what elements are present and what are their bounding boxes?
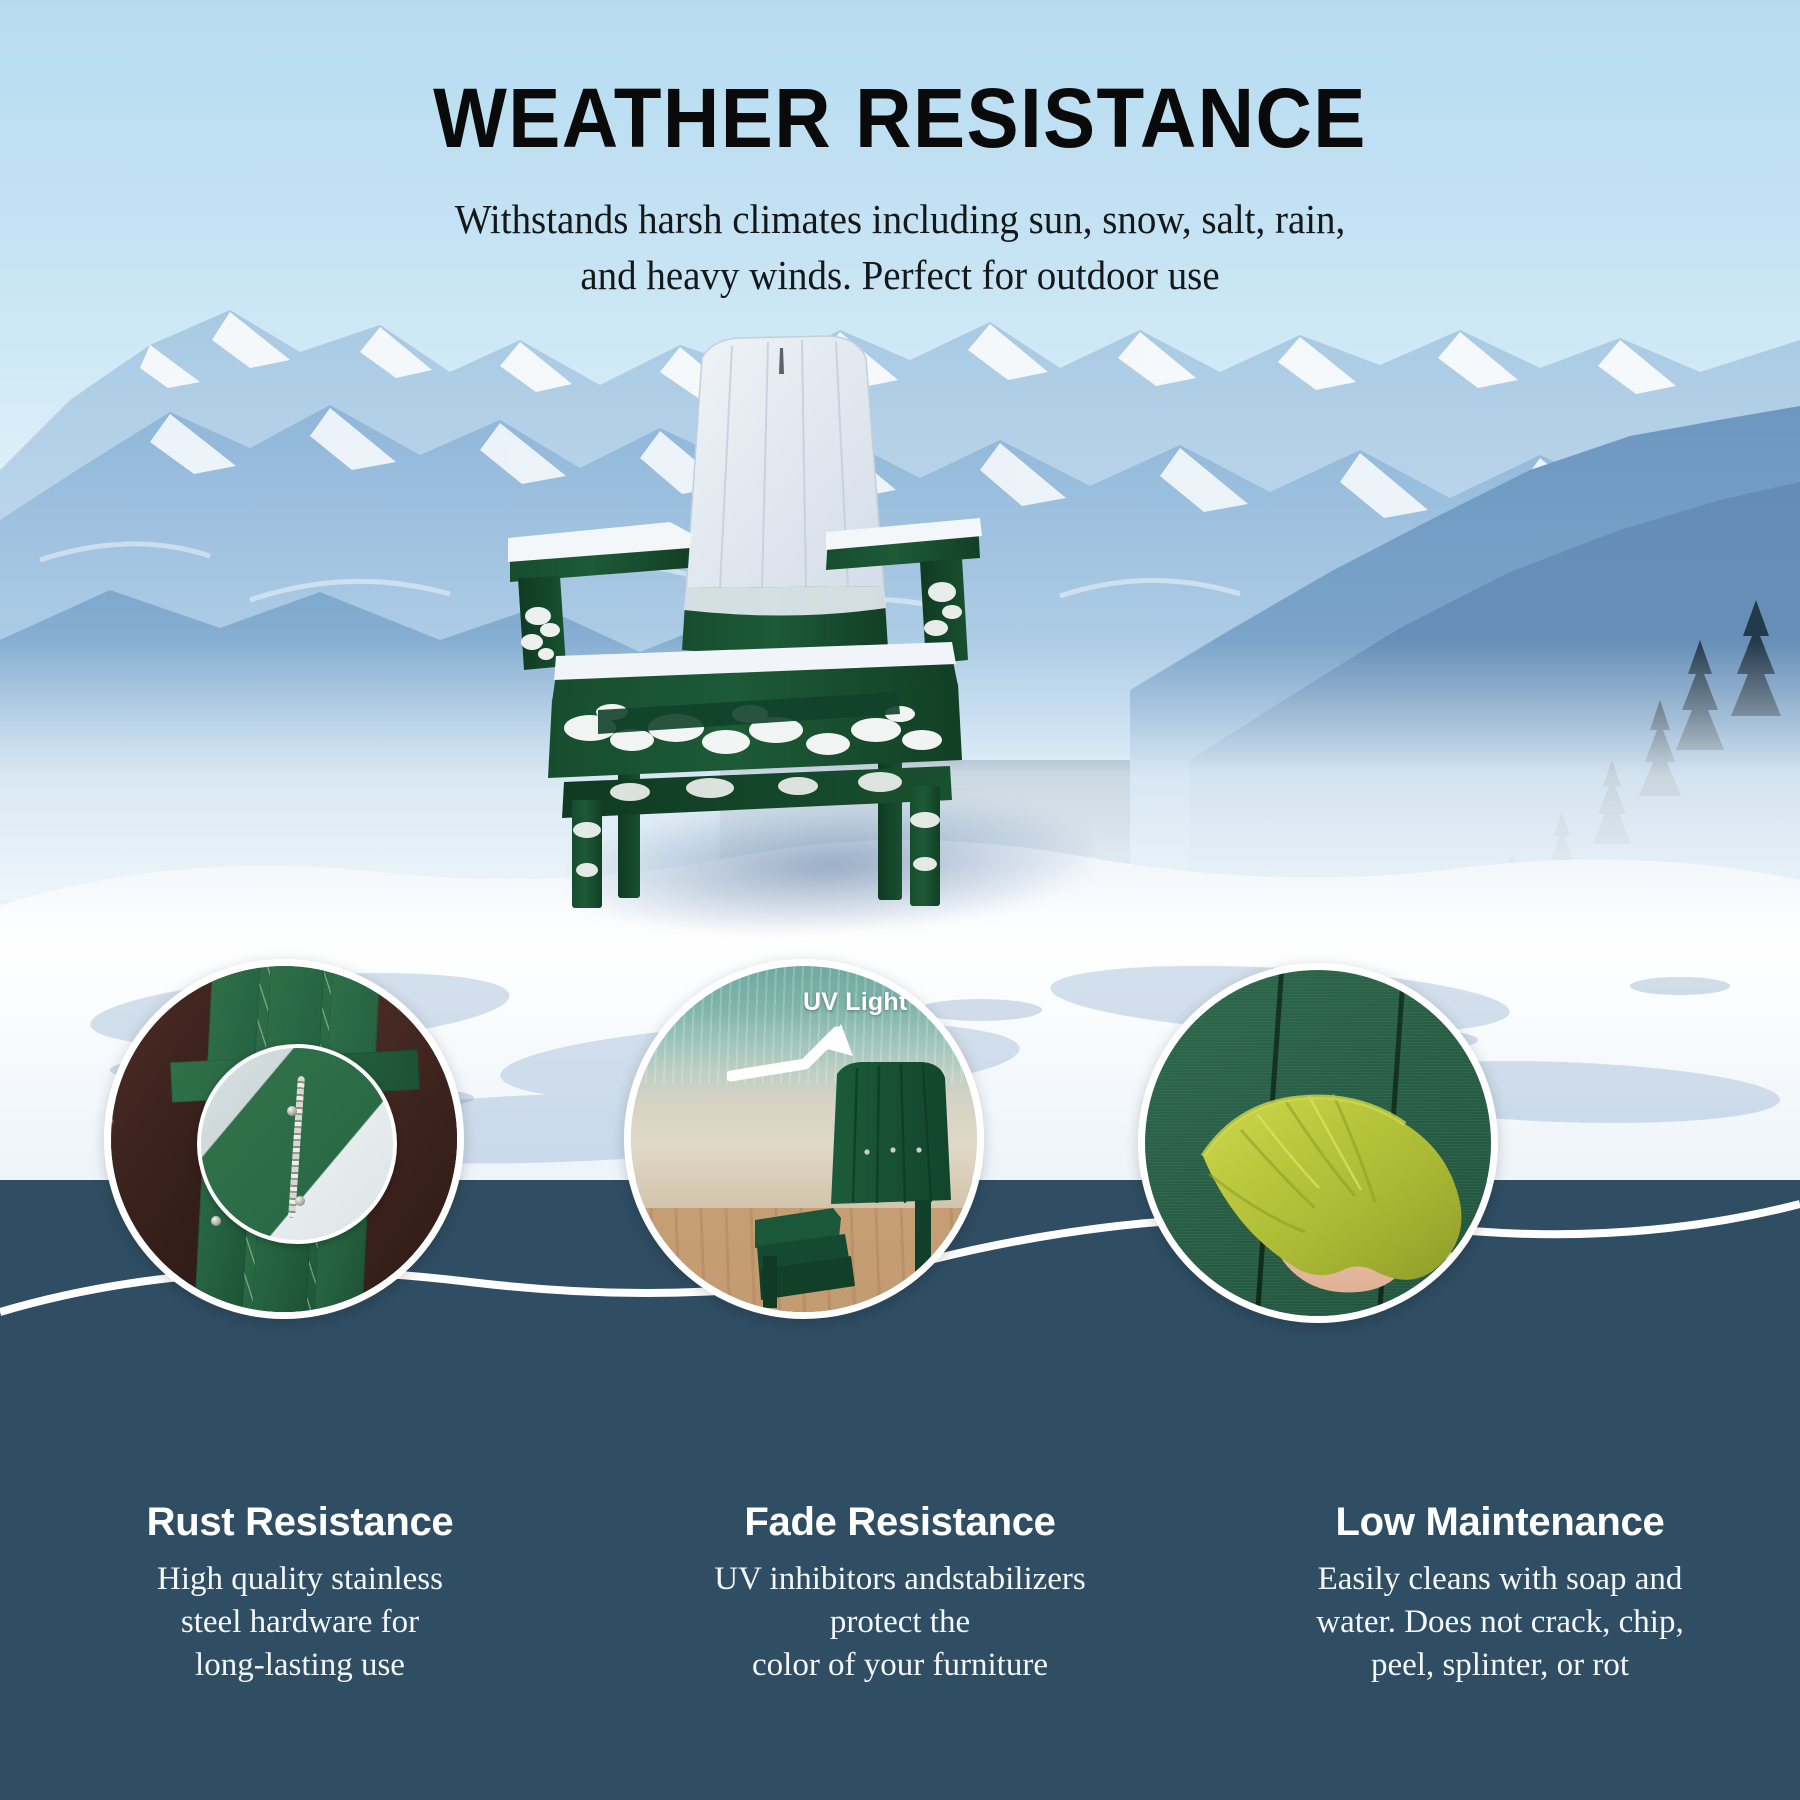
page-subtitle: Withstands harsh climates including sun,… xyxy=(45,192,1755,304)
feature-body-low-maintenance: Easily cleans with soap and water. Does … xyxy=(1226,1558,1774,1687)
feature-low-maintenance: Low Maintenance Easily cleans with soap … xyxy=(1200,1500,1800,1687)
microfiber-cloth xyxy=(1203,1097,1462,1280)
chair-back-snow-lip xyxy=(684,586,886,616)
feature-image-fade-resistance: UV Light xyxy=(624,959,984,1319)
feature-fade-resistance: Fade Resistance UV inhibitors andstabili… xyxy=(600,1500,1200,1687)
feature-body-line: steel hardware for xyxy=(26,1601,574,1644)
rust-image-inner xyxy=(111,966,457,1312)
snow-covered-chair-svg xyxy=(480,330,1040,910)
feature-title-fade-resistance: Fade Resistance xyxy=(626,1500,1174,1544)
feature-image-low-maintenance xyxy=(1138,963,1498,1323)
page-title: WEATHER RESISTANCE xyxy=(63,76,1737,160)
mini-chair-rear-leg xyxy=(915,1200,931,1292)
feature-body-fade-resistance: UV inhibitors andstabilizers protect the… xyxy=(626,1558,1174,1687)
uv-light-label: UV Light xyxy=(803,988,907,1017)
feature-image-rust-resistance xyxy=(104,959,464,1319)
feature-text-row: Rust Resistance High quality stainless s… xyxy=(0,1500,1800,1687)
subtitle-line-1: Withstands harsh climates including sun,… xyxy=(45,192,1755,248)
wipe-image-inner xyxy=(1145,970,1491,1316)
chair-front-leg-left xyxy=(572,800,602,908)
feature-body-line: High quality stainless xyxy=(26,1558,574,1601)
feature-body-line: Easily cleans with soap and xyxy=(1226,1558,1774,1601)
hero-chair-group xyxy=(480,330,1040,910)
beach-image-inner: UV Light xyxy=(631,966,977,1312)
infographic-canvas: WEATHER RESISTANCE Withstands harsh clim… xyxy=(0,0,1800,1800)
chair-front-leg-right xyxy=(910,786,940,906)
feature-title-rust-resistance: Rust Resistance xyxy=(26,1500,574,1544)
chain-anchor-top xyxy=(287,1106,297,1116)
mini-chair-back xyxy=(831,1062,951,1204)
feature-body-line: long-lasting use xyxy=(26,1644,574,1687)
feature-circles: UV Light xyxy=(0,955,1800,1355)
mini-chair-leg xyxy=(763,1256,777,1308)
hardware-closeup-circle xyxy=(197,1044,397,1244)
feature-body-line: water. Does not crack, chip, xyxy=(1226,1601,1774,1644)
feature-body-line: peel, splinter, or rot xyxy=(1226,1644,1774,1687)
feature-rust-resistance: Rust Resistance High quality stainless s… xyxy=(0,1500,600,1687)
feature-body-rust-resistance: High quality stainless steel hardware fo… xyxy=(26,1558,574,1687)
screw-3 xyxy=(211,1216,221,1226)
subtitle-line-2: and heavy winds. Perfect for outdoor use xyxy=(45,248,1755,304)
feature-body-line: UV inhibitors andstabilizers xyxy=(626,1558,1174,1601)
chain-anchor-bottom xyxy=(295,1196,305,1206)
feature-title-low-maintenance: Low Maintenance xyxy=(1226,1500,1774,1544)
beach-adirondack-chair-svg xyxy=(745,1060,975,1310)
feature-body-line: protect the xyxy=(626,1601,1174,1644)
feature-body-line: color of your furniture xyxy=(626,1644,1174,1687)
hand-with-cloth-svg xyxy=(1145,970,1498,1323)
